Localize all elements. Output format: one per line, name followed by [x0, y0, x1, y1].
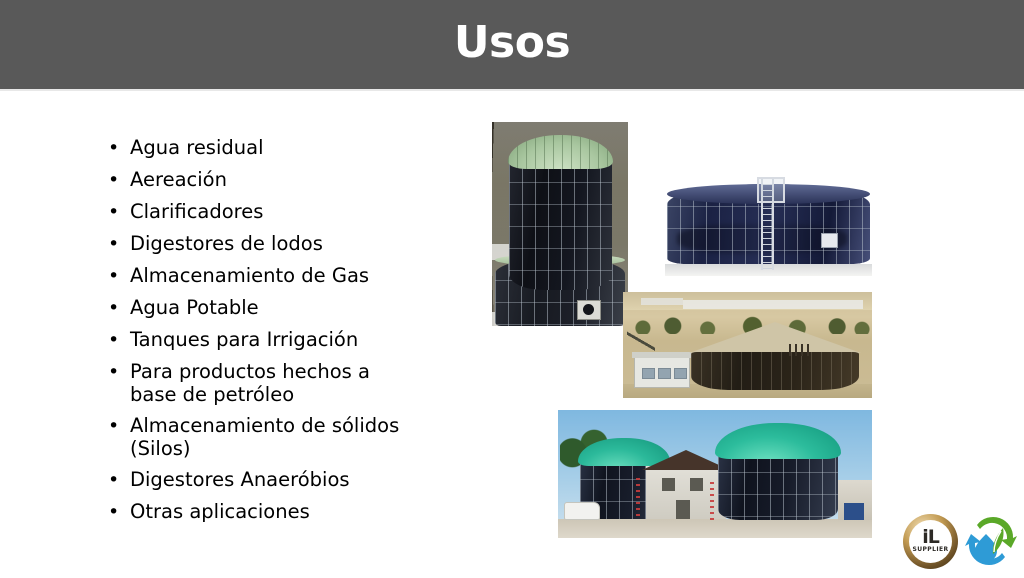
- tank-body-right: [718, 450, 838, 520]
- tank-dome-roof-right: [715, 423, 841, 459]
- blue-container: [844, 503, 864, 520]
- tank-cone-roof: [689, 322, 861, 353]
- list-item-label: Para productos hechos a base de petróleo: [130, 360, 370, 406]
- list-item-label: Otras aplicaciones: [130, 500, 310, 523]
- scaffold-ladder-icon: [636, 478, 640, 520]
- building-window: [658, 368, 671, 379]
- list-item-label: Almacenamiento de Gas: [130, 264, 369, 287]
- house-window: [662, 478, 675, 491]
- bullet-marker-icon: •: [108, 360, 130, 384]
- list-item: • Otras aplicaciones: [108, 500, 468, 524]
- photo-tank-green-dome: [492, 122, 628, 326]
- control-building: [634, 356, 690, 388]
- ladder-safety-cage: [757, 177, 785, 203]
- list-item-label: Almacenamiento de sólidos (Silos): [130, 414, 399, 460]
- list-item-label: Agua Potable: [130, 296, 259, 319]
- title-bar-divider: [0, 89, 1024, 91]
- il-supplier-logo: iL SUPPLIER: [903, 514, 958, 569]
- list-item: • Almacenamiento de Gas: [108, 264, 468, 288]
- eco-recycle-logo: [963, 512, 1019, 568]
- building-window: [674, 368, 687, 379]
- list-item-label: Aereación: [130, 168, 227, 191]
- list-item-label: Tanques para Irrigación: [130, 328, 358, 351]
- building-window: [642, 368, 655, 379]
- list-item-label: Digestores Anaeróbios: [130, 468, 350, 491]
- bullet-marker-icon: •: [108, 264, 130, 288]
- list-item: • Almacenamiento de sólidos (Silos): [108, 414, 468, 460]
- bullet-marker-icon: •: [108, 500, 130, 524]
- roof-pipes-icon: [789, 344, 811, 356]
- list-item: • Aereación: [108, 168, 468, 192]
- lagoon-far: [683, 300, 863, 309]
- panel-seams-horizontal: [718, 450, 838, 520]
- photo-tank-navy-wide: [665, 175, 872, 276]
- tank-body: [509, 160, 612, 290]
- list-item: • Digestores de lodos: [108, 232, 468, 256]
- bullet-marker-icon: •: [108, 328, 130, 352]
- house-window: [690, 478, 703, 491]
- tank-body: [691, 352, 859, 390]
- list-item: • Digestores Anaeróbios: [108, 468, 468, 492]
- panel-seams-horizontal: [509, 160, 612, 290]
- bullet-marker-icon: •: [108, 168, 130, 192]
- list-item-label: Digestores de lodos: [130, 232, 323, 255]
- list-item: • Clarificadores: [108, 200, 468, 224]
- tank-vent-icon: [577, 300, 601, 320]
- scaffold-ladder-icon: [710, 482, 714, 520]
- house-door: [676, 500, 690, 519]
- list-item: • Agua residual: [108, 136, 468, 160]
- list-item-label: Agua residual: [130, 136, 264, 159]
- list-item: • Tanques para Irrigación: [108, 328, 468, 352]
- bullet-marker-icon: •: [108, 232, 130, 256]
- nameplate: [821, 233, 838, 248]
- page-title: Usos: [0, 17, 1024, 69]
- list-item: • Para productos hechos a base de petról…: [108, 360, 468, 406]
- panel-seams-vertical: [691, 352, 859, 390]
- white-truck: [564, 502, 600, 520]
- il-monogram: iL: [922, 529, 939, 546]
- bullet-marker-icon: •: [108, 468, 130, 492]
- list-item: • Agua Potable: [108, 296, 468, 320]
- ground-strip: [558, 519, 872, 538]
- photo-tanks-teal-domes: [558, 410, 872, 538]
- bullet-marker-icon: •: [108, 414, 130, 438]
- bullet-marker-icon: •: [108, 136, 130, 160]
- list-item-label: Clarificadores: [130, 200, 263, 223]
- photo-tank-tan-cone: [623, 292, 872, 398]
- lagoon-near: [641, 298, 683, 305]
- bullet-marker-icon: •: [108, 296, 130, 320]
- house-under-construction: [646, 466, 726, 519]
- bullet-list: • Agua residual • Aereación • Clarificad…: [108, 136, 468, 532]
- bullet-marker-icon: •: [108, 200, 130, 224]
- il-supplier-wordmark: SUPPLIER: [913, 546, 949, 554]
- il-supplier-logo-inner: iL SUPPLIER: [909, 520, 952, 563]
